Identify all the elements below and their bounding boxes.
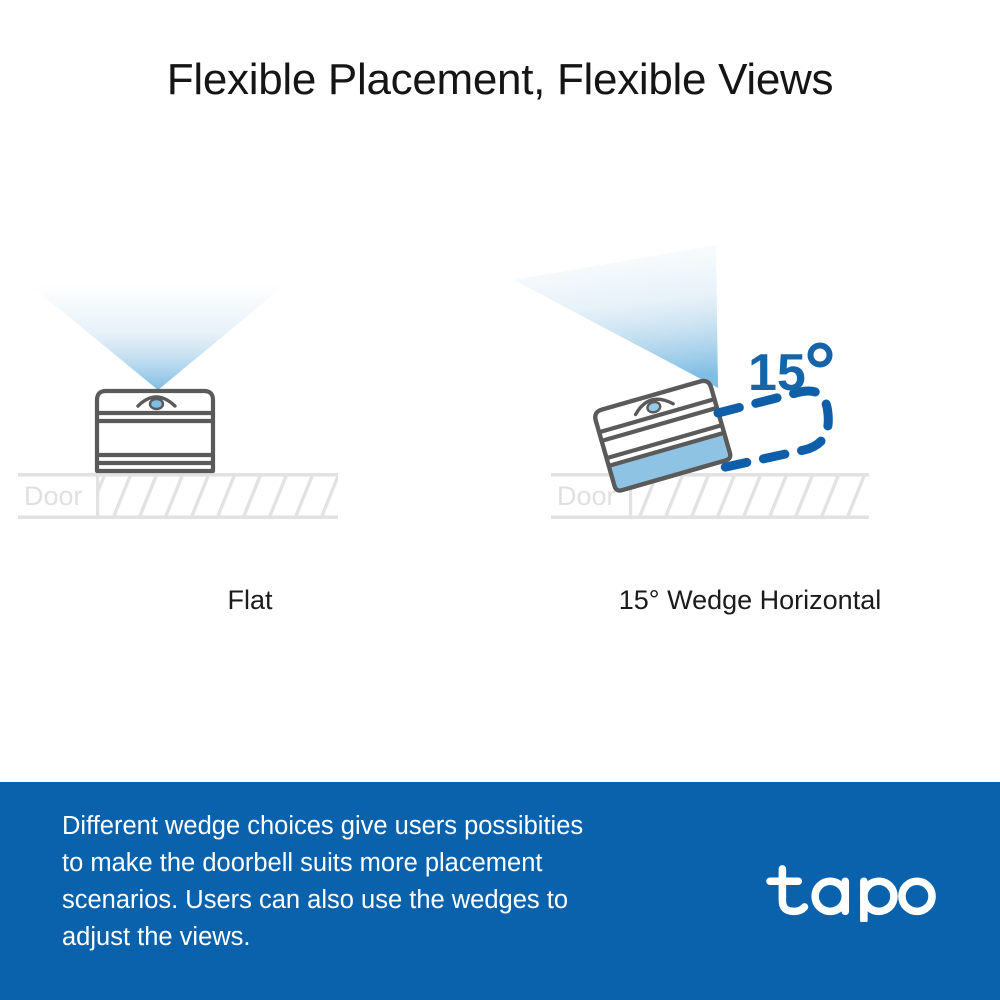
page-root: Flexible Placement, Flexible Views	[0, 0, 1000, 1000]
banner-line-3: scenarios. Users can also use the wedges…	[62, 882, 722, 919]
field-of-view-cone	[514, 245, 718, 388]
door-surface: Door	[18, 473, 338, 519]
banner-line-2: to make the doorbell suits more placemen…	[62, 845, 722, 882]
figure-flat-caption: Flat	[0, 585, 500, 616]
angle-value: 15	[748, 344, 806, 402]
figure-flat-illustration: Door	[0, 150, 500, 650]
degree-symbol-icon	[811, 346, 830, 365]
banner-line-1: Different wedge choices give users possi…	[62, 808, 722, 845]
page-title: Flexible Placement, Flexible Views	[0, 55, 1000, 105]
door-label: Door	[24, 481, 83, 511]
figure-wedge-caption: 15° Wedge Horizontal	[500, 585, 1000, 616]
door-label: Door	[557, 481, 616, 511]
banner-description: Different wedge choices give users possi…	[62, 808, 722, 956]
figure-wedge-illustration: Door	[500, 150, 1000, 650]
banner-line-4: adjust the views.	[62, 919, 722, 956]
tapo-logo-mark	[765, 860, 945, 922]
figure-wedge-15: Door	[500, 150, 1000, 650]
door-surface: Door	[551, 473, 869, 519]
tapo-logo: tapo	[765, 860, 945, 922]
bottom-banner: Different wedge choices give users possi…	[0, 782, 1000, 1000]
field-of-view-cone	[30, 285, 285, 390]
figures-container: Door	[0, 150, 1000, 650]
doorbell-device-flat	[97, 391, 214, 471]
figure-flat: Door	[0, 150, 500, 650]
